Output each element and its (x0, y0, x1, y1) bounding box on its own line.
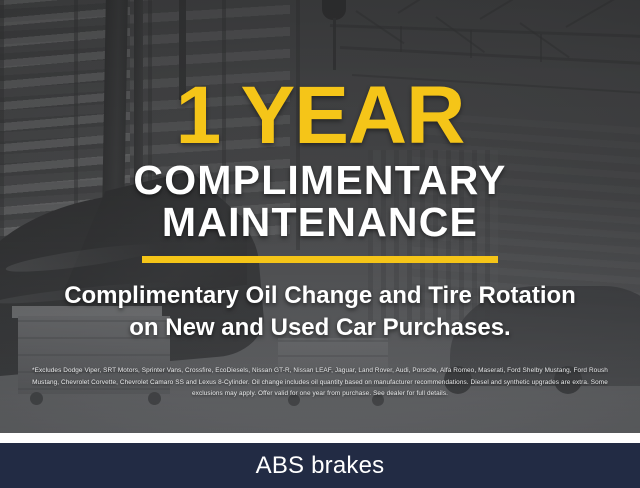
promo-offer-line-2: on New and Used Car Purchases. (129, 312, 510, 344)
promo-headline-maintenance: MAINTENANCE (162, 202, 478, 244)
yellow-divider-rule (142, 256, 498, 263)
promo-banner-image[interactable]: 1 YEAR COMPLIMENTARY MAINTENANCE Complim… (0, 0, 640, 433)
vehicle-feature-card: 1 YEAR COMPLIMENTARY MAINTENANCE Complim… (0, 0, 640, 488)
promo-headline-complimentary: COMPLIMENTARY (133, 160, 506, 202)
promo-headline-year: 1 YEAR (176, 78, 465, 153)
promo-text-content: 1 YEAR COMPLIMENTARY MAINTENANCE Complim… (0, 0, 640, 433)
feature-caption-bar[interactable]: ABS brakes (0, 443, 640, 488)
promo-offer-line-1: Complimentary Oil Change and Tire Rotati… (64, 280, 576, 312)
separator-rule (0, 433, 640, 443)
feature-caption-label: ABS brakes (256, 452, 385, 480)
promo-disclaimer-text: *Excludes Dodge Viper, SRT Motors, Sprin… (10, 365, 630, 399)
